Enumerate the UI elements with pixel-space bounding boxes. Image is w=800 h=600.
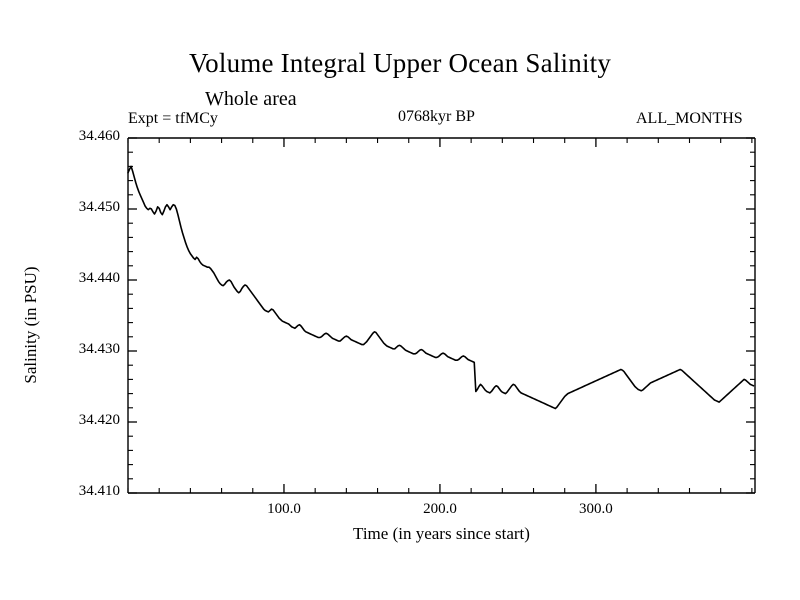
y-tick-label: 34.450	[42, 199, 120, 216]
y-tick-label: 34.420	[42, 412, 120, 429]
data-series-line	[128, 166, 753, 408]
y-tick-label: 34.410	[42, 483, 120, 500]
axis-ticks	[128, 138, 755, 493]
x-tick-label: 100.0	[239, 501, 329, 518]
chart-page: Volume Integral Upper Ocean Salinity Who…	[0, 0, 800, 600]
y-tick-label: 34.460	[42, 128, 120, 145]
x-tick-label: 200.0	[395, 501, 485, 518]
y-tick-label: 34.440	[42, 270, 120, 287]
x-tick-label: 300.0	[551, 501, 641, 518]
y-tick-label: 34.430	[42, 341, 120, 358]
plot-area: 34.41034.42034.43034.44034.45034.460100.…	[0, 0, 800, 600]
axis-frame	[128, 138, 755, 493]
